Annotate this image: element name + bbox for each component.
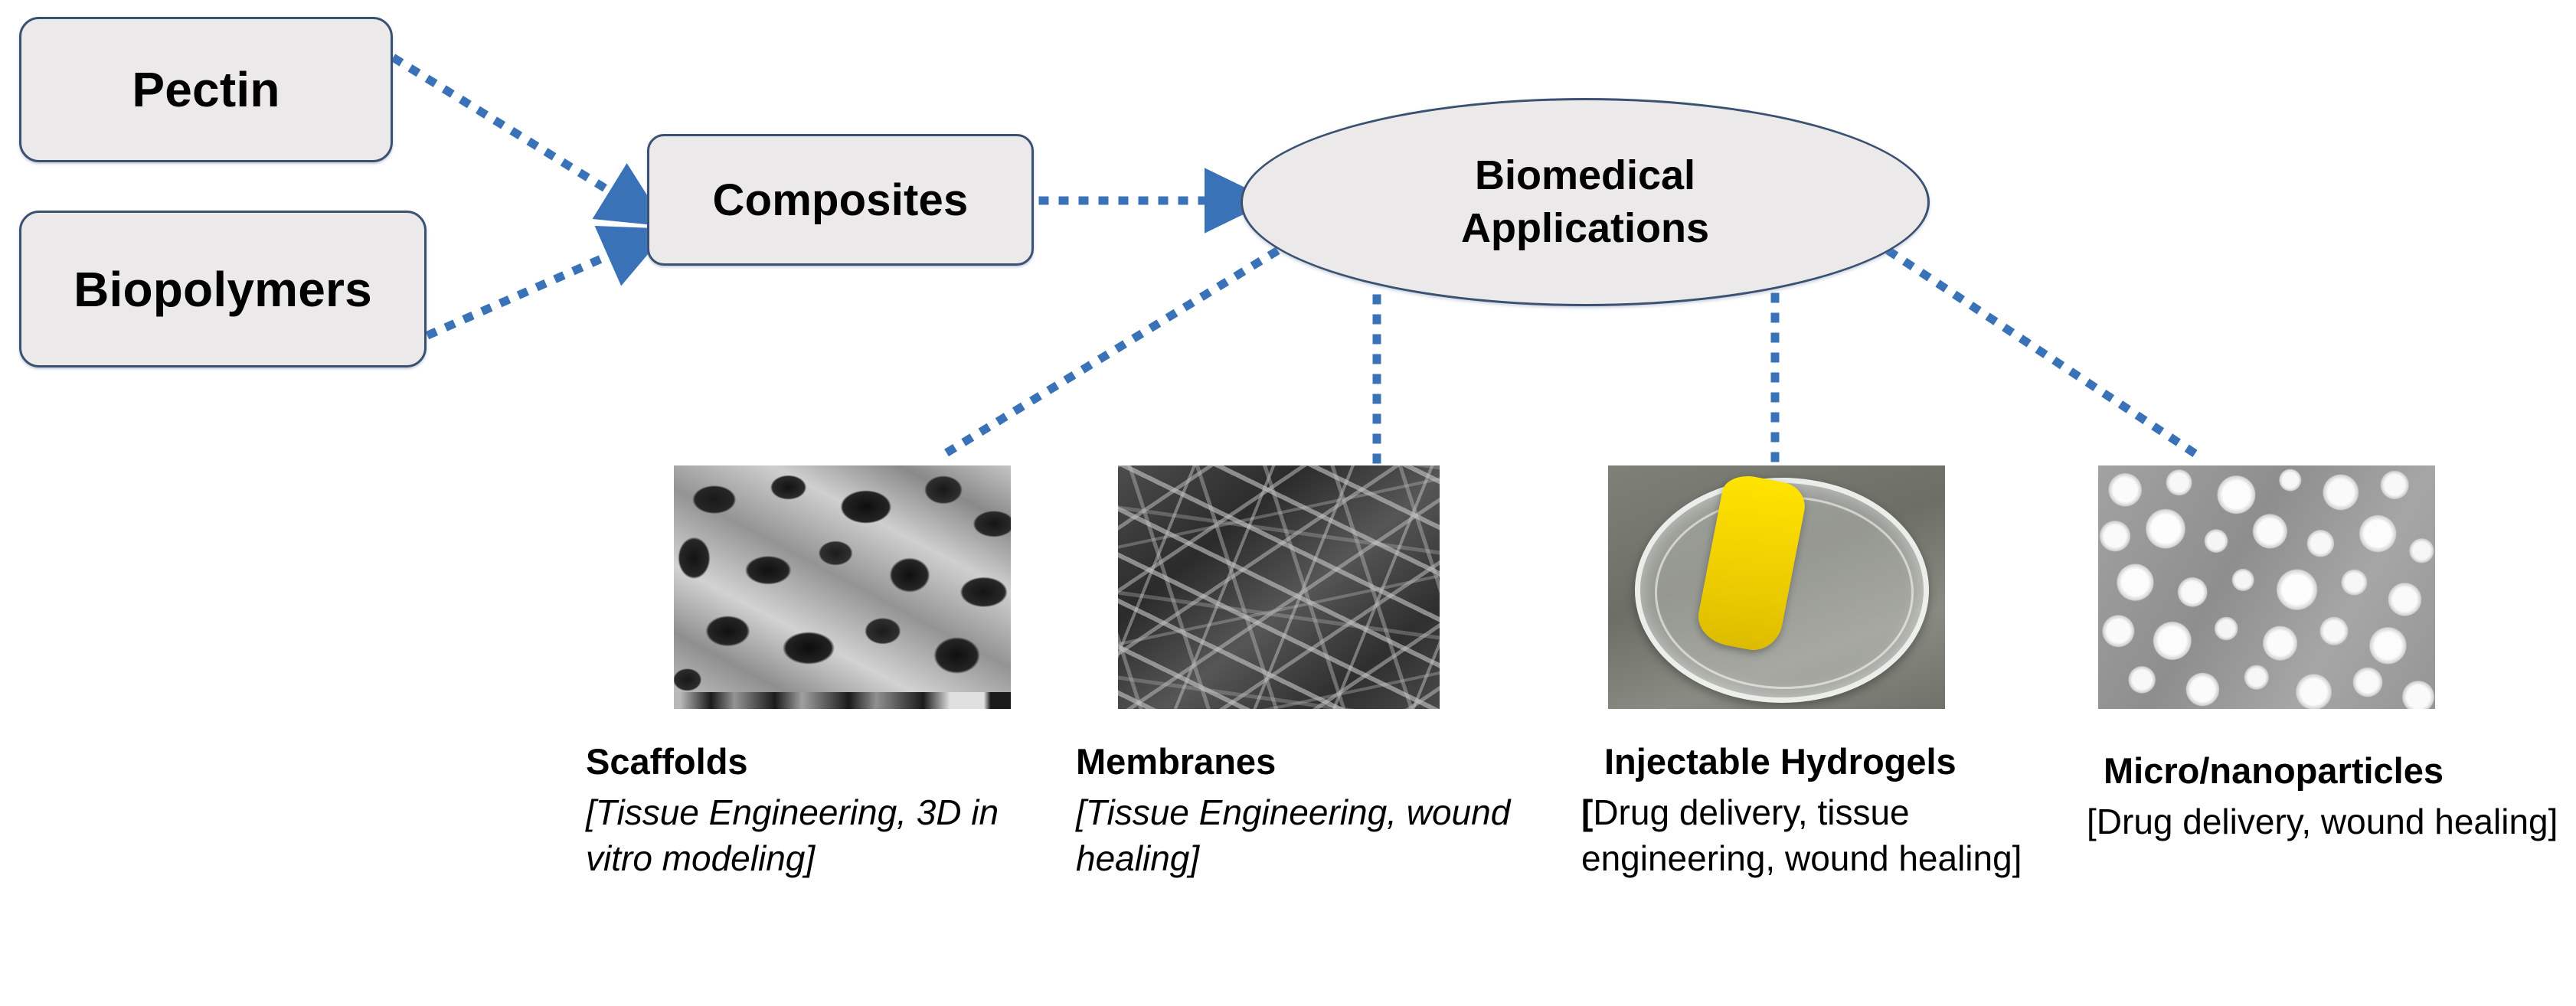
caption-membranes-title: Membranes bbox=[1076, 741, 1528, 782]
caption-membranes: Membranes [Tissue Engineering, wound hea… bbox=[1076, 741, 1528, 882]
connector-pectin-to-composites bbox=[397, 60, 633, 205]
image-injectable-hydrogel-photo bbox=[1608, 465, 1945, 709]
sem-porous-texture bbox=[674, 465, 1011, 709]
caption-hydrogels-description-text: Drug delivery, tissue engineering, wound… bbox=[1581, 792, 2022, 878]
sem-scalebar-strip bbox=[674, 692, 1011, 709]
connector-applications-to-particles bbox=[1891, 253, 2204, 459]
node-biopolymers[interactable]: Biopolymers bbox=[19, 211, 427, 367]
node-biomedical-applications[interactable]: Biomedical Applications bbox=[1241, 98, 1930, 306]
node-composites-label: Composites bbox=[713, 175, 969, 226]
connector-biopolymers-to-composites bbox=[431, 245, 633, 334]
petri-dish-photo bbox=[1608, 465, 1945, 709]
node-biopolymers-label: Biopolymers bbox=[74, 261, 372, 318]
caption-particles-title: Micro/nanoparticles bbox=[2104, 750, 2576, 792]
node-pectin-label: Pectin bbox=[132, 61, 280, 118]
node-pectin[interactable]: Pectin bbox=[19, 17, 393, 162]
node-ellipse-line2: Applications bbox=[1461, 202, 1709, 255]
caption-scaffolds-description: [Tissue Engineering, 3D in vitro modelin… bbox=[586, 790, 1045, 882]
connector-applications-to-scaffolds bbox=[936, 253, 1274, 459]
caption-scaffolds: Scaffolds [Tissue Engineering, 3D in vit… bbox=[586, 741, 1045, 882]
image-scaffolds-sem bbox=[674, 465, 1011, 709]
caption-injectable-hydrogels: Injectable Hydrogels [Drug delivery, tis… bbox=[1581, 741, 2041, 882]
caption-membranes-description: [Tissue Engineering, wound healing] bbox=[1076, 790, 1528, 882]
sem-spheres-texture bbox=[2098, 465, 2435, 709]
node-ellipse-text: Biomedical Applications bbox=[1461, 149, 1709, 255]
node-ellipse-line1: Biomedical bbox=[1461, 149, 1709, 202]
image-microparticles-sem bbox=[2098, 465, 2435, 709]
node-composites[interactable]: Composites bbox=[647, 134, 1034, 266]
diagram-canvas: Pectin Biopolymers Composites Biomedical… bbox=[0, 0, 2576, 1006]
caption-hydrogels-title: Injectable Hydrogels bbox=[1604, 741, 2041, 782]
caption-hydrogels-description: [Drug delivery, tissue engineering, woun… bbox=[1581, 790, 2041, 882]
caption-particles-description: [Drug delivery, wound healing] bbox=[2087, 799, 2576, 845]
caption-scaffolds-title: Scaffolds bbox=[586, 741, 1045, 782]
image-membranes-sem bbox=[1118, 465, 1440, 709]
sem-nanofiber-texture bbox=[1118, 465, 1440, 709]
caption-hydrogels-open-bracket: [ bbox=[1581, 792, 1593, 832]
caption-micro-nanoparticles: Micro/nanoparticles [Drug delivery, woun… bbox=[2087, 750, 2576, 845]
